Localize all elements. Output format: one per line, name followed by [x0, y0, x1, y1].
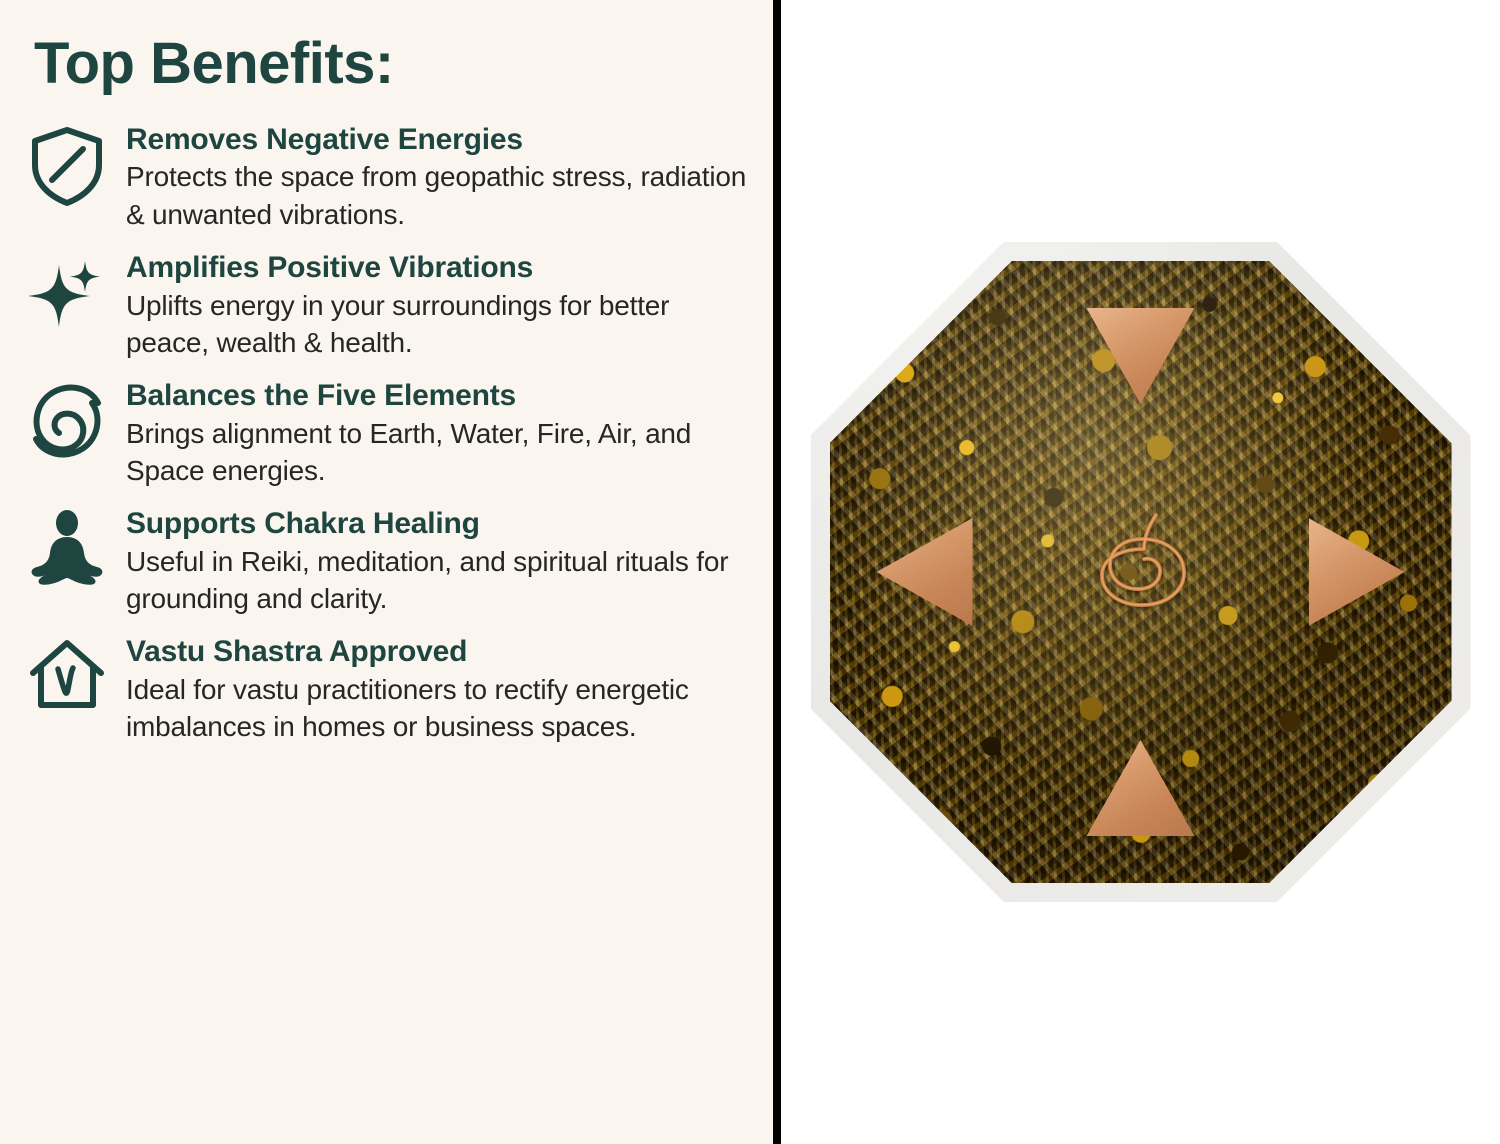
benefit-heading: Amplifies Positive Vibrations [126, 251, 753, 285]
sparkles-icon [26, 249, 108, 331]
meditation-lotus-icon [26, 505, 108, 587]
benefit-item-supports-chakra-healing: Supports Chakra Healing Useful in Reiki,… [26, 505, 753, 617]
benefit-text: Amplifies Positive Vibrations Uplifts en… [126, 249, 753, 361]
copper-spiral-coil [1066, 497, 1216, 647]
orgonite-vastu-plate: Octagonal tiger's eye orgonite vastu pla… [791, 222, 1491, 922]
benefit-item-balances-five-elements: Balances the Five Elements Brings alignm… [26, 377, 753, 489]
benefit-item-vastu-shastra-approved: Vastu Shastra Approved Ideal for vastu p… [26, 633, 753, 745]
page-title: Top Benefits: [34, 34, 753, 95]
benefit-heading: Removes Negative Energies [126, 123, 753, 157]
benefit-description: Ideal for vastu practitioners to rectify… [126, 671, 753, 745]
benefit-description: Uplifts energy in your surroundings for … [126, 287, 753, 361]
benefit-item-removes-negative-energies: Removes Negative Energies Protects the s… [26, 121, 753, 233]
shield-slash-icon [26, 121, 108, 203]
spiral-icon [26, 377, 108, 459]
product-photo-panel: Octagonal tiger's eye orgonite vastu pla… [781, 0, 1500, 1144]
benefit-heading: Balances the Five Elements [126, 379, 753, 413]
benefit-heading: Vastu Shastra Approved [126, 635, 753, 669]
benefit-text: Removes Negative Energies Protects the s… [126, 121, 753, 233]
benefit-description: Brings alignment to Earth, Water, Fire, … [126, 415, 753, 489]
benefit-text: Vastu Shastra Approved Ideal for vastu p… [126, 633, 753, 745]
benefit-description: Useful in Reiki, meditation, and spiritu… [126, 543, 753, 617]
benefits-panel: Top Benefits: Removes Negative Energies … [0, 0, 773, 1144]
benefit-text: Supports Chakra Healing Useful in Reiki,… [126, 505, 753, 617]
benefit-item-amplifies-positive-vibrations: Amplifies Positive Vibrations Uplifts en… [26, 249, 753, 361]
benefit-description: Protects the space from geopathic stress… [126, 158, 753, 232]
infographic-page: Top Benefits: Removes Negative Energies … [0, 0, 1500, 1144]
panel-divider [773, 0, 781, 1144]
benefit-text: Balances the Five Elements Brings alignm… [126, 377, 753, 489]
benefit-heading: Supports Chakra Healing [126, 507, 753, 541]
benefit-list: Removes Negative Energies Protects the s… [26, 121, 753, 745]
house-vastu-icon [26, 633, 108, 715]
